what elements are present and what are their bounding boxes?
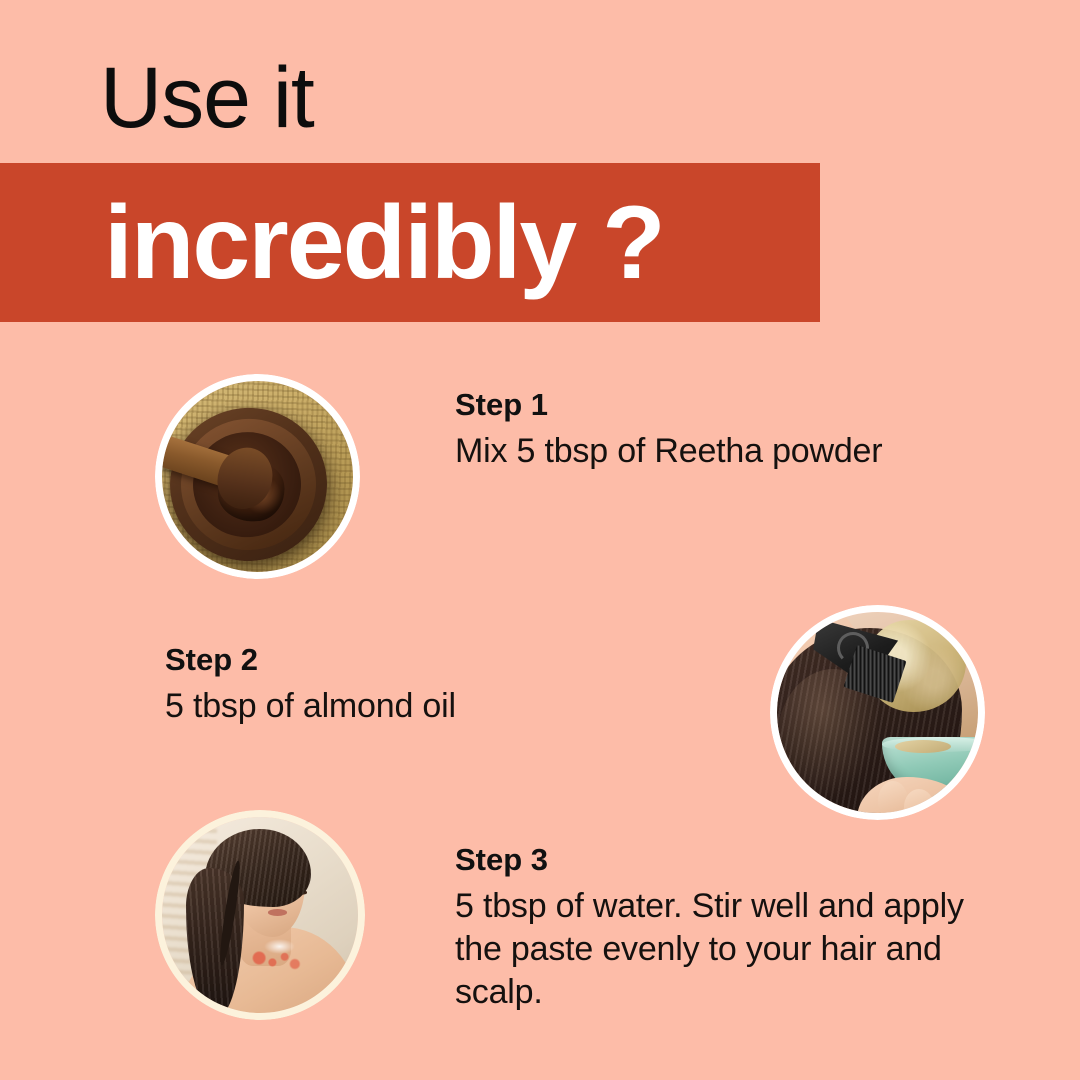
step-2-image <box>770 605 985 820</box>
lips <box>268 909 288 916</box>
step-2-body: 5 tbsp of almond oil <box>165 685 705 728</box>
page-title-line-1: Use it <box>100 55 314 141</box>
step-1-title: Step 1 <box>455 386 1015 425</box>
step-2-title: Step 2 <box>165 641 705 680</box>
step-1-text-block: Step 1 Mix 5 tbsp of Reetha powder <box>455 386 1015 473</box>
step-3-body: 5 tbsp of water. Stir well and apply the… <box>455 885 995 1015</box>
step-1-image <box>155 374 360 579</box>
step-3-title: Step 3 <box>455 841 995 880</box>
step-3-photo <box>162 817 358 1013</box>
poster-canvas: Use it incredibly ? Step 1 Mix 5 tbsp of… <box>0 0 1080 1080</box>
step-3-image <box>155 810 365 1020</box>
step-2-text-block: Step 2 5 tbsp of almond oil <box>165 641 705 728</box>
step-1-photo <box>162 381 353 572</box>
step-1-body: Mix 5 tbsp of Reetha powder <box>455 430 1015 473</box>
step-3-text-block: Step 3 5 tbsp of water. Stir well and ap… <box>455 841 995 1014</box>
page-title-line-2: incredibly ? <box>104 168 824 318</box>
step-2-photo <box>777 612 978 813</box>
water-droplets <box>252 950 303 970</box>
